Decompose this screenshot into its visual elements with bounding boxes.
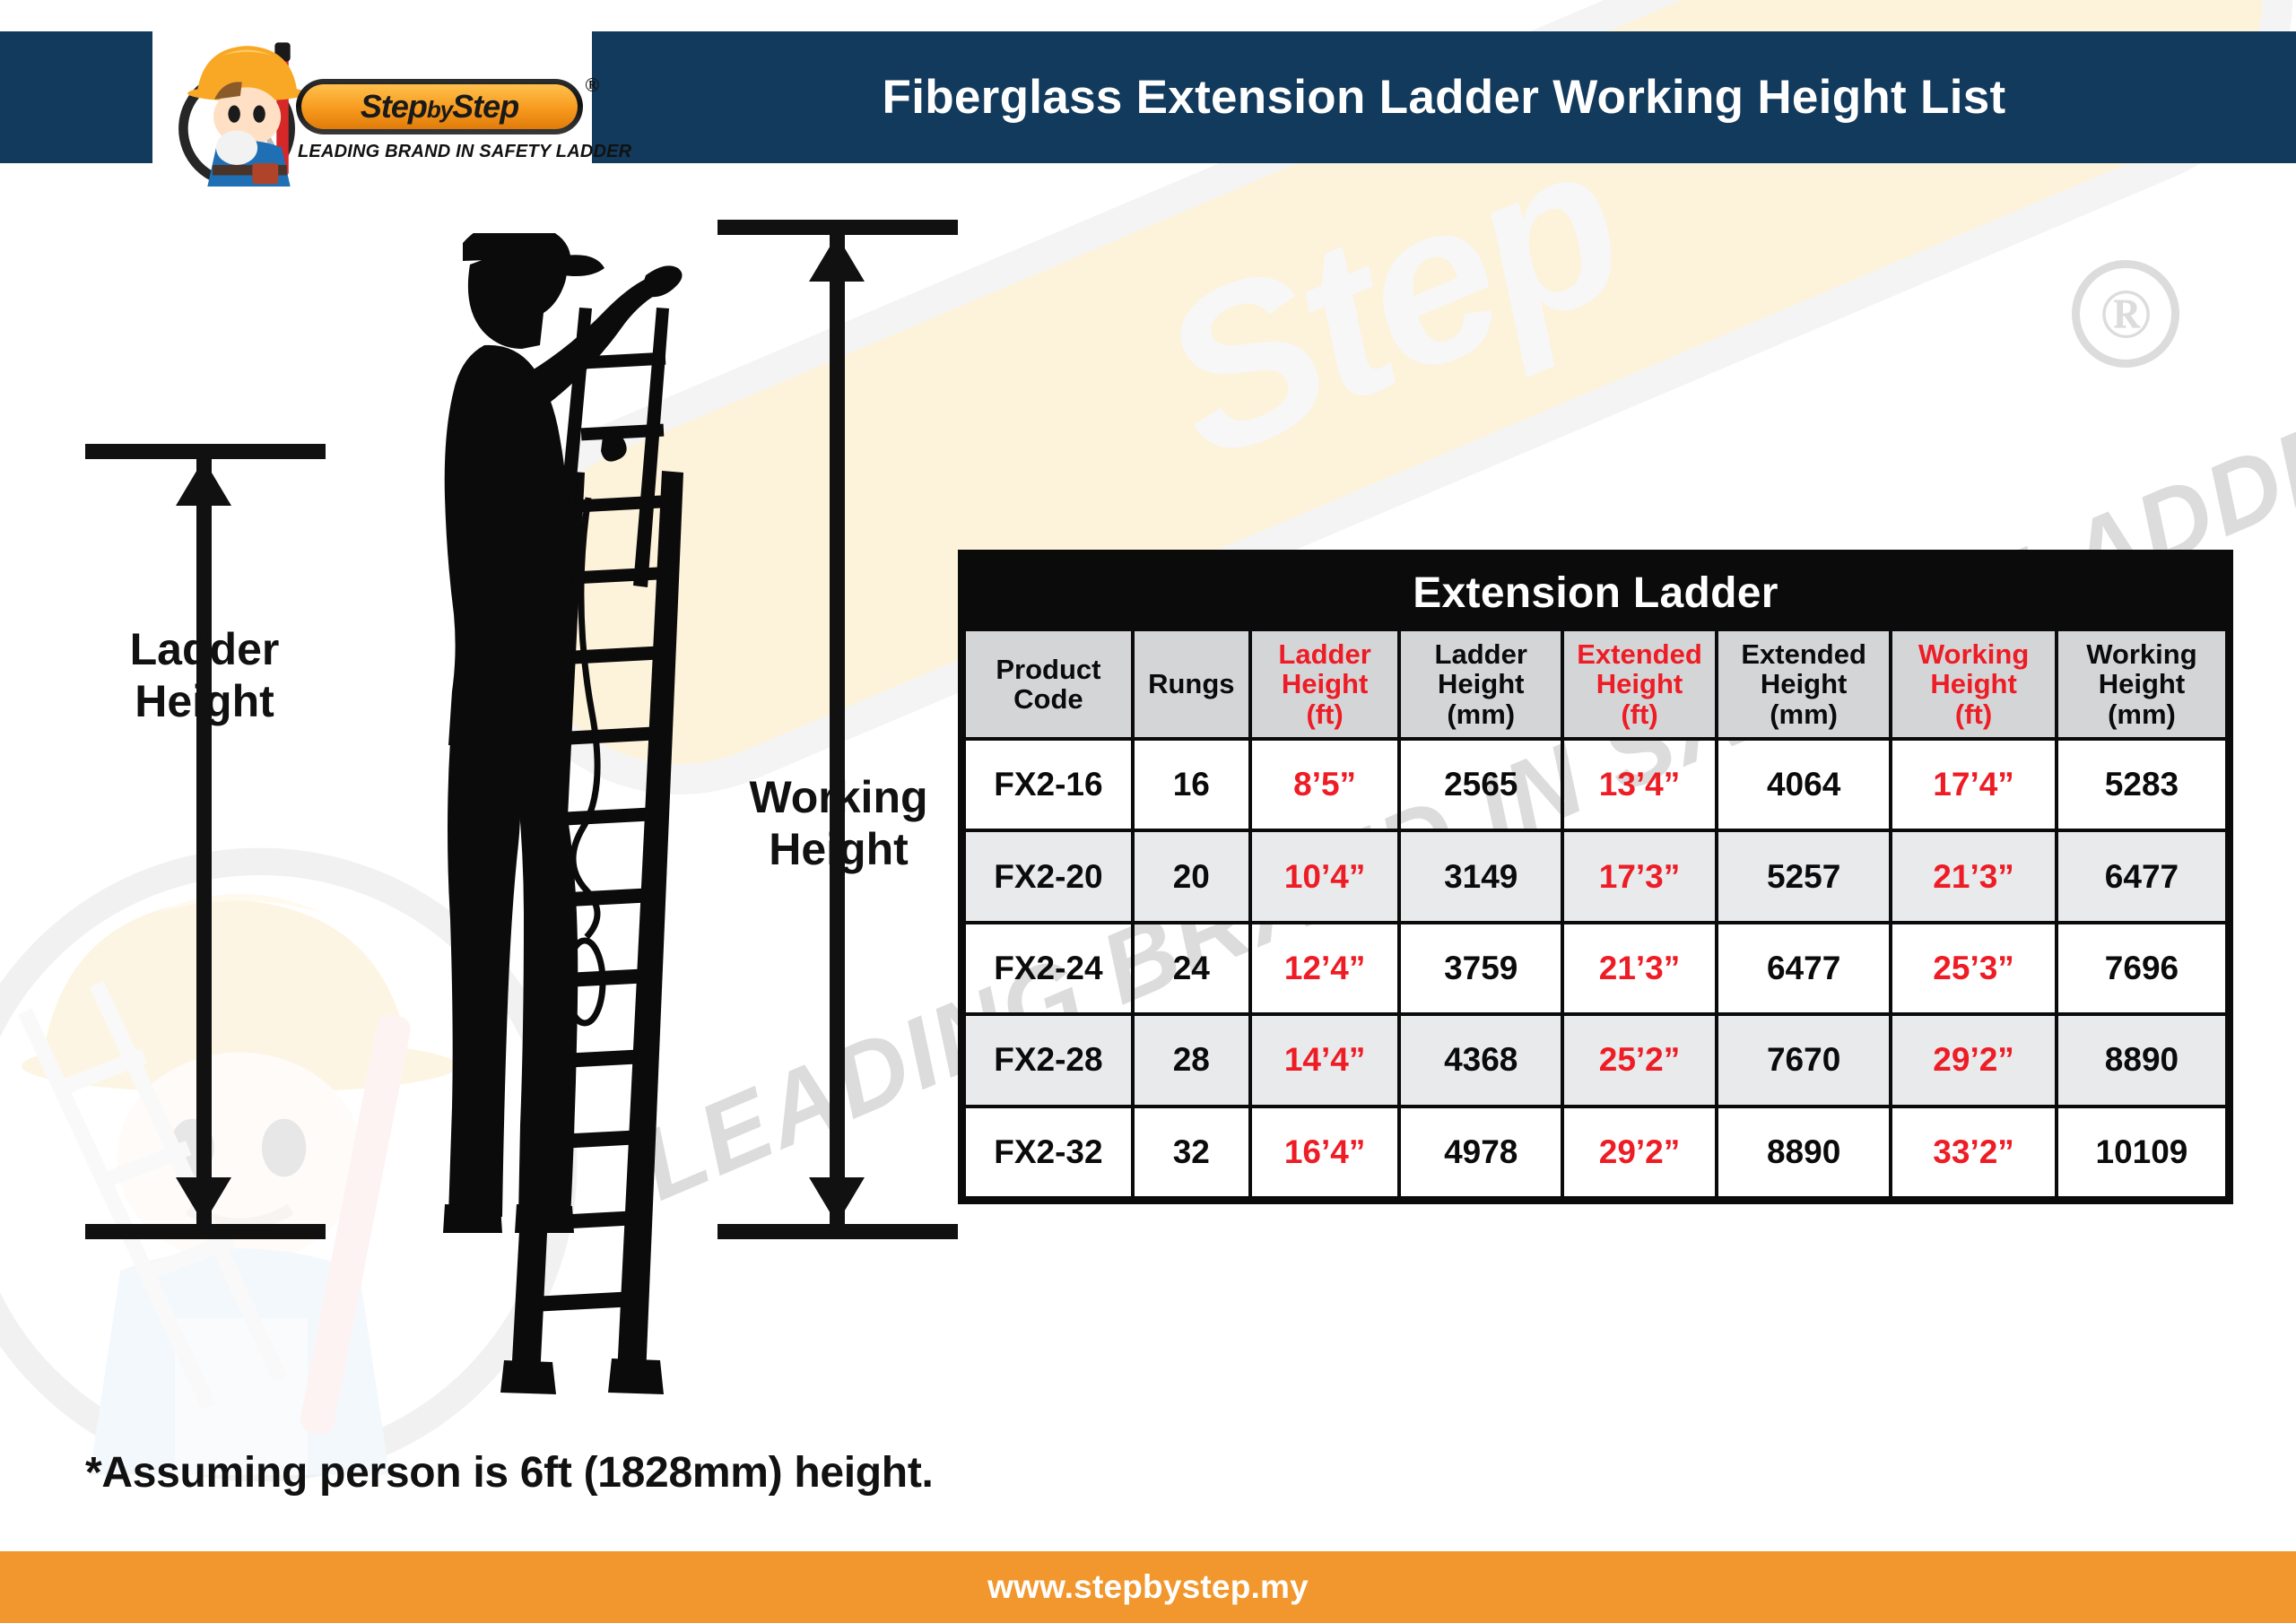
cell-rungs: 24 [1133,923,1250,1014]
table-title: Extension Ladder [964,556,2227,629]
cell-extended-ft: 17’3” [1562,830,1717,922]
ladder-height-arrow-shaft [196,459,212,1224]
website-link[interactable]: www.stepbystep.my [987,1568,1309,1606]
working-height-arrow-shaft [830,235,845,1224]
header-line3: (mm) [1720,699,1887,729]
header-line2: Height [1894,669,2053,699]
header-line1: Working [1894,639,2053,669]
cell-ladder-mm: 4368 [1399,1014,1562,1106]
logo-tagline: LEADING BRAND IN SAFETY LADDER [298,142,594,162]
working-height-bottom-cap [717,1224,958,1239]
column-header-ladder-height-mm: Ladder Height (mm) [1399,629,1562,739]
ladder-height-top-cap [85,444,326,459]
header-line3: (mm) [1403,699,1559,729]
cell-rungs: 32 [1133,1107,1250,1198]
logo-band: StepbyStep [296,79,583,135]
cell-working-mm: 10109 [2057,1107,2227,1198]
header-line1: Ladder [1254,639,1396,669]
ladder-specs-table: Extension Ladder Product Code Rungs Ladd… [958,550,2233,1204]
column-header-ladder-height-ft: Ladder Height (ft) [1250,629,1400,739]
logo-wordmark: StepbyStep [361,91,518,123]
logo-word-by: by [427,96,452,123]
working-height-top-cap [717,220,958,235]
arrow-down-icon [176,1177,231,1224]
header-line1: Working [2060,639,2223,669]
cell-ladder-ft: 10’4” [1250,830,1400,922]
cell-working-mm: 6477 [2057,830,2227,922]
header-line2: Height [1254,669,1396,699]
cell-extended-ft: 25’2” [1562,1014,1717,1106]
ladder-height-bottom-cap [85,1224,326,1239]
header-line3: (ft) [1894,699,2053,729]
cell-extended-mm: 7670 [1717,1014,1891,1106]
column-header-working-height-ft: Working Height (ft) [1891,629,2057,739]
cell-extended-ft: 13’4” [1562,739,1717,830]
cell-ladder-ft: 16’4” [1250,1107,1400,1198]
cell-rungs: 28 [1133,1014,1250,1106]
cell-rungs: 20 [1133,830,1250,922]
arrow-up-icon [176,459,231,506]
cell-ladder-ft: 12’4” [1250,923,1400,1014]
cell-working-ft: 33’2” [1891,1107,2057,1198]
footnote: *Assuming person is 6ft (1828mm) height. [85,1448,934,1497]
header-line1: Extended [1720,639,1887,669]
cell-product-code: FX2-24 [964,923,1133,1014]
cell-rungs: 16 [1133,739,1250,830]
header-line2: Height [2060,669,2223,699]
header-line3: (mm) [2060,699,2223,729]
height-diagram: Ladder Height Working Height [0,179,951,1524]
footer-bar: www.stepbystep.my [0,1551,2296,1623]
header-line2: Height [1720,669,1887,699]
logo-word-step2: Step [452,88,518,125]
cell-extended-mm: 6477 [1717,923,1891,1014]
ladder-height-label-line1: Ladder [43,623,366,675]
cell-working-ft: 29’2” [1891,1014,2057,1106]
cell-extended-mm: 5257 [1717,830,1891,922]
brand-logo[interactable]: StepbyStep ® LEADING BRAND IN SAFETY LAD… [161,27,583,188]
infographic-page: Step LEADING BRAND IN SAFETY LADDER ® Fi… [0,0,2296,1623]
header-line2: Code [968,684,1129,714]
cell-product-code: FX2-20 [964,830,1133,922]
ladder-height-label: Ladder Height [43,623,366,727]
header-line2: Height [1566,669,1713,699]
cell-ladder-mm: 3149 [1399,830,1562,922]
table-title-row: Extension Ladder [964,556,2227,629]
logo-word-step1: Step [361,88,427,125]
cell-extended-ft: 29’2” [1562,1107,1717,1198]
table-row: FX2-32 32 16’4” 4978 29’2” 8890 33’2” 10… [964,1107,2227,1198]
working-height-label-line2: Height [682,823,996,875]
table-row: FX2-28 28 14’4” 4368 25’2” 7670 29’2” 88… [964,1014,2227,1106]
ladder-height-label-line2: Height [43,675,366,727]
cell-ladder-mm: 2565 [1399,739,1562,830]
header-line3: (ft) [1254,699,1396,729]
header-line3: (ft) [1566,699,1713,729]
column-header-product-code: Product Code [964,629,1133,739]
logo-registered-icon: ® [585,74,599,97]
cell-product-code: FX2-32 [964,1107,1133,1198]
cell-ladder-mm: 4978 [1399,1107,1562,1198]
column-header-extended-height-mm: Extended Height (mm) [1717,629,1891,739]
header-line1: Product [968,655,1129,684]
arrow-up-icon [809,235,865,282]
cell-extended-mm: 4064 [1717,739,1891,830]
cell-working-mm: 5283 [2057,739,2227,830]
arrow-down-icon [809,1177,865,1224]
cell-extended-ft: 21’3” [1562,923,1717,1014]
registered-trademark-watermark-icon: ® [2072,260,2179,368]
table-row: FX2-16 16 8’5” 2565 13’4” 4064 17’4” 528… [964,739,2227,830]
cell-ladder-ft: 14’4” [1250,1014,1400,1106]
header-line1: Extended [1566,639,1713,669]
cell-ladder-ft: 8’5” [1250,739,1400,830]
cell-working-ft: 21’3” [1891,830,2057,922]
table-row: FX2-20 20 10’4” 3149 17’3” 5257 21’3” 64… [964,830,2227,922]
table-header-row: Product Code Rungs Ladder Height (ft) La… [964,629,2227,739]
table-row: FX2-24 24 12’4” 3759 21’3” 6477 25’3” 76… [964,923,2227,1014]
cell-product-code: FX2-16 [964,739,1133,830]
header-line1: Rungs [1136,669,1247,699]
cell-working-mm: 7696 [2057,923,2227,1014]
cell-product-code: FX2-28 [964,1014,1133,1106]
cell-working-ft: 25’3” [1891,923,2057,1014]
cell-working-mm: 8890 [2057,1014,2227,1106]
cell-working-ft: 17’4” [1891,739,2057,830]
column-header-extended-height-ft: Extended Height (ft) [1562,629,1717,739]
cell-extended-mm: 8890 [1717,1107,1891,1198]
column-header-rungs: Rungs [1133,629,1250,739]
working-height-label: Working Height [682,771,996,875]
cell-ladder-mm: 3759 [1399,923,1562,1014]
working-height-label-line1: Working [682,771,996,823]
page-title: Fiberglass Extension Ladder Working Heig… [592,31,2296,163]
column-header-working-height-mm: Working Height (mm) [2057,629,2227,739]
header-line1: Ladder [1403,639,1559,669]
header-line2: Height [1403,669,1559,699]
